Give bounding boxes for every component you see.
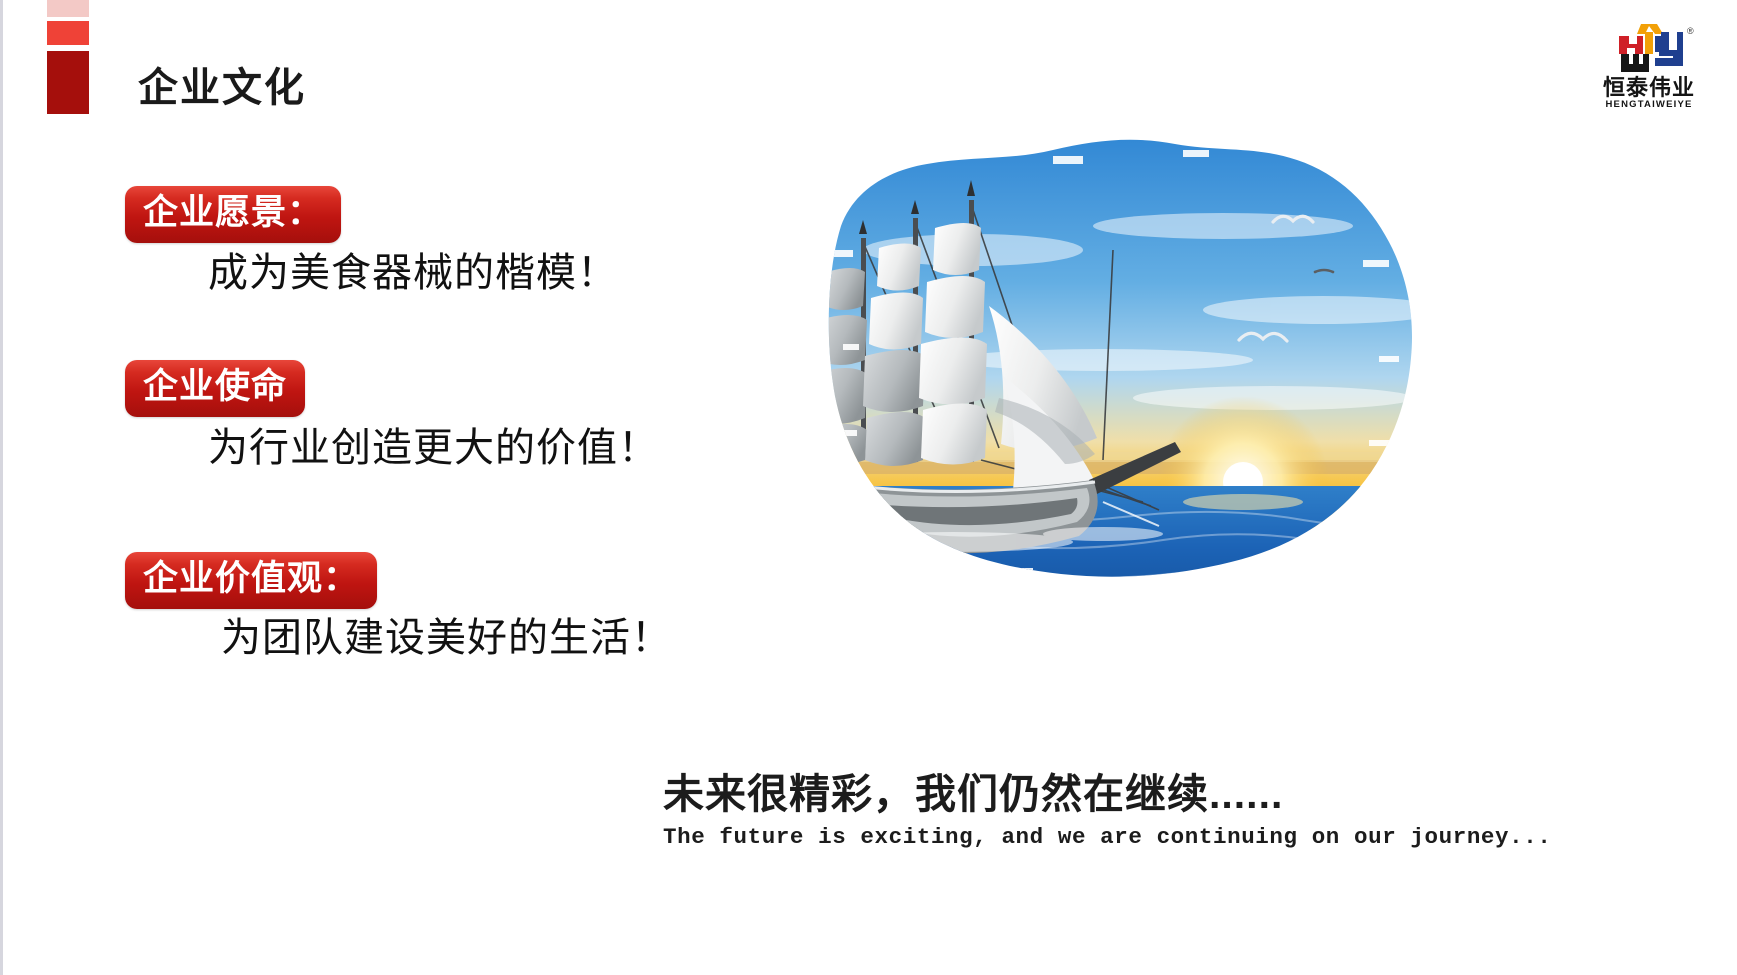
logo-name-chinese: 恒泰伟业 bbox=[1583, 77, 1715, 99]
statement-corporate-mission: 为行业创造更大的价值！ bbox=[208, 415, 659, 473]
presentation-slide: 企业文化 ® 恒泰伟业 HENGTAIWEIYE 企业愿景： 成为美食器械的楷模… bbox=[0, 0, 1737, 975]
company-logo: ® 恒泰伟业 HENGTAIWEIYE bbox=[1583, 20, 1715, 112]
accent-bar-segment-bright bbox=[47, 21, 89, 45]
decorative-accent-bar bbox=[47, 0, 89, 118]
badge-corporate-values: 企业价值观： bbox=[125, 552, 377, 609]
logo-hexagon-icon bbox=[1611, 20, 1687, 78]
badge-corporate-vision: 企业愿景： bbox=[125, 186, 341, 243]
badge-corporate-mission: 企业使命 bbox=[125, 360, 305, 417]
registered-trademark-icon: ® bbox=[1687, 26, 1694, 36]
statement-corporate-values: 为团队建设美好的生活！ bbox=[221, 605, 672, 663]
statement-corporate-vision: 成为美食器械的楷模！ bbox=[208, 240, 618, 298]
sailing-ship-illustration bbox=[803, 130, 1463, 610]
page-title: 企业文化 bbox=[138, 55, 306, 113]
accent-bar-segment-dark bbox=[47, 51, 89, 114]
accent-bar-segment-light bbox=[47, 0, 89, 17]
logo-name-english: HENGTAIWEIYE bbox=[1583, 100, 1715, 110]
tagline-english: The future is exciting, and we are conti… bbox=[663, 824, 1551, 850]
tagline-chinese: 未来很精彩，我们仍然在继续...... bbox=[663, 760, 1283, 820]
